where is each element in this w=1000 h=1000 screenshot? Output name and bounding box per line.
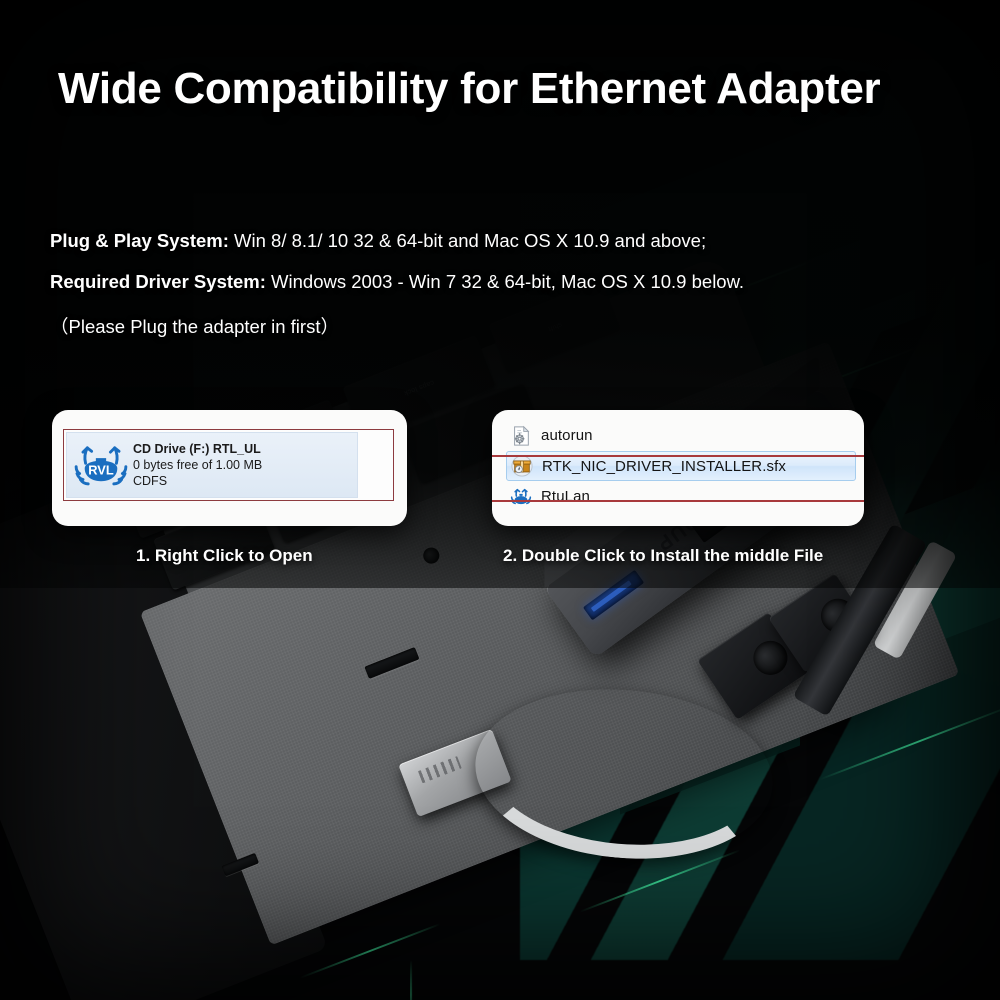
file-list: autorun RTK_NIC_DRIVER_INSTALLER.sfx: [492, 420, 864, 512]
plug-and-play-line: Plug & Play System: Win 8/ 8.1/ 10 32 & …: [50, 232, 910, 251]
page-title: Wide Compatibility for Ethernet Adapter: [58, 64, 880, 114]
required-driver-line: Required Driver System: Windows 2003 - W…: [50, 273, 910, 292]
red-highlight-box: RVL CD Drive (F:) RTL_UL 0 bytes free of…: [63, 429, 394, 501]
content-layer: Wide Compatibility for Ethernet Adapter …: [0, 0, 1000, 1000]
file-row-autorun[interactable]: autorun: [492, 420, 864, 451]
cd-drive-name: CD Drive (F:) RTL_UL: [133, 441, 262, 457]
required-driver-label: Required Driver System:: [50, 271, 266, 292]
plug-and-play-value: Win 8/ 8.1/ 10 32 & 64-bit and Mac OS X …: [229, 230, 706, 251]
step-two-caption: 2. Double Click to Install the middle Fi…: [503, 546, 823, 566]
file-row-rtulan[interactable]: RtuLan: [492, 481, 864, 512]
red-guide-line: [492, 455, 864, 457]
cd-drive-screenshot-card: RVL CD Drive (F:) RTL_UL 0 bytes free of…: [52, 410, 407, 526]
compatibility-specs: Plug & Play System: Win 8/ 8.1/ 10 32 & …: [50, 232, 910, 339]
cd-drive-capacity: 0 bytes free of 1.00 MB: [133, 457, 262, 473]
file-name: autorun: [541, 427, 593, 444]
cd-drive-details: CD Drive (F:) RTL_UL 0 bytes free of 1.0…: [133, 441, 262, 489]
plug-first-note: （Please Plug the adapter in first）: [50, 313, 910, 339]
cd-drive-item[interactable]: RVL CD Drive (F:) RTL_UL 0 bytes free of…: [66, 432, 358, 498]
file-list-screenshot-card: autorun RTK_NIC_DRIVER_INSTALLER.sfx: [492, 410, 864, 526]
red-guide-line: [492, 500, 864, 502]
required-driver-value: Windows 2003 - Win 7 32 & 64-bit, Mac OS…: [266, 271, 744, 292]
cd-drive-filesystem: CDFS: [133, 473, 262, 489]
sfx-archive-icon: [511, 455, 533, 477]
file-name: RtuLan: [541, 488, 590, 505]
realtek-crab-icon: RVL: [73, 441, 129, 489]
plug-and-play-label: Plug & Play System:: [50, 230, 229, 251]
step-one-caption: 1. Right Click to Open: [136, 546, 313, 566]
svg-text:RVL: RVL: [88, 462, 114, 477]
autorun-config-icon: [510, 425, 532, 447]
realtek-crab-icon: [510, 486, 532, 508]
product-infographic: ` tab caps lock shift EDUP: [0, 0, 1000, 1000]
file-name: RTK_NIC_DRIVER_INSTALLER.sfx: [542, 458, 786, 475]
